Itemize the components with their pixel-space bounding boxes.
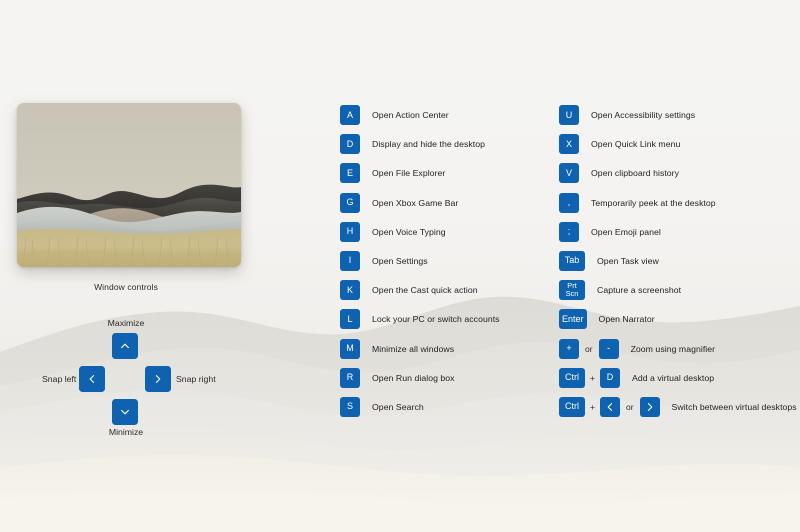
key-cap-line: Scn — [566, 290, 579, 298]
snap-right-label: Snap right — [176, 374, 216, 384]
shortcut-row: KOpen the Cast quick action — [340, 280, 500, 300]
shortcut-keys: K — [340, 280, 360, 300]
shortcut-keys: Tab — [559, 251, 585, 271]
shortcut-row: ;Open Emoji panel — [559, 222, 797, 242]
shortcut-keys: D — [340, 134, 360, 154]
maximize-button[interactable] — [112, 333, 138, 359]
key-+[interactable]: + — [559, 339, 579, 359]
key-x[interactable]: X — [559, 134, 579, 154]
shortcut-row: DDisplay and hide the desktop — [340, 134, 500, 154]
key-chevron-right-icon[interactable] — [640, 397, 660, 417]
shortcut-description: Open Task view — [585, 256, 659, 266]
shortcut-keys: L — [340, 309, 360, 329]
shortcut-keys: +or- — [559, 339, 619, 359]
wallpaper-thumbnail — [17, 103, 241, 267]
shortcut-keys: Ctrl+D — [559, 368, 620, 388]
shortcut-description: Open Xbox Game Bar — [360, 198, 458, 208]
wallpaper-thumbnail-image — [17, 103, 241, 267]
shortcut-row: SOpen Search — [340, 397, 500, 417]
shortcut-row: Ctrl+orSwitch between virtual desktops — [559, 397, 797, 417]
shortcut-description: Open File Explorer — [360, 168, 445, 178]
shortcut-list-right: UOpen Accessibility settingsXOpen Quick … — [559, 105, 797, 426]
shortcut-row: PrtScnCapture a screenshot — [559, 280, 797, 300]
key-k[interactable]: K — [340, 280, 360, 300]
key-r[interactable]: R — [340, 368, 360, 388]
shortcut-description: Open clipboard history — [579, 168, 679, 178]
chevron-right-icon — [152, 373, 164, 385]
maximize-label: Maximize — [0, 318, 252, 328]
shortcut-keys: ; — [559, 222, 579, 242]
key-combo-or: or — [579, 344, 599, 354]
key-e[interactable]: E — [340, 163, 360, 183]
key-g[interactable]: G — [340, 193, 360, 213]
shortcut-row: ,Temporarily peek at the desktop — [559, 193, 797, 213]
key-combo-plus: + — [585, 402, 600, 412]
shortcut-row: Ctrl+DAdd a virtual desktop — [559, 368, 797, 388]
shortcut-description: Open Action Center — [360, 110, 449, 120]
key-m[interactable]: M — [340, 339, 360, 359]
key-d[interactable]: D — [340, 134, 360, 154]
shortcut-row: HOpen Voice Typing — [340, 222, 500, 242]
key--[interactable]: - — [599, 339, 619, 359]
shortcut-row: LLock your PC or switch accounts — [340, 309, 500, 329]
shortcut-keys: , — [559, 193, 579, 213]
shortcut-description: Add a virtual desktop — [620, 373, 714, 383]
key-h[interactable]: H — [340, 222, 360, 242]
key-combo-or: or — [620, 402, 640, 412]
shortcut-row: GOpen Xbox Game Bar — [340, 193, 500, 213]
snap-left-label: Snap left — [42, 374, 76, 384]
key-a[interactable]: A — [340, 105, 360, 125]
shortcut-row: MMinimize all windows — [340, 339, 500, 359]
shortcut-description: Open Settings — [360, 256, 428, 266]
key-;[interactable]: ; — [559, 222, 579, 242]
key-l[interactable]: L — [340, 309, 360, 329]
shortcut-description: Capture a screenshot — [585, 285, 681, 295]
key-s[interactable]: S — [340, 397, 360, 417]
shortcut-row: UOpen Accessibility settings — [559, 105, 797, 125]
shortcut-keys: V — [559, 163, 579, 183]
snap-left-button[interactable] — [79, 366, 105, 392]
shortcut-keys: X — [559, 134, 579, 154]
key-combo-plus: + — [585, 373, 600, 383]
shortcut-description: Zoom using magnifier — [619, 344, 716, 354]
shortcut-keys: S — [340, 397, 360, 417]
shortcut-keys: E — [340, 163, 360, 183]
key-tab[interactable]: Tab — [559, 251, 585, 271]
shortcut-description: Open Quick Link menu — [579, 139, 680, 149]
window-controls-diagram: Window controls Maximize Snap left Snap … — [0, 282, 252, 442]
snap-right-button[interactable] — [145, 366, 171, 392]
shortcut-description: Open Emoji panel — [579, 227, 661, 237]
key-ctrl[interactable]: Ctrl — [559, 368, 585, 388]
chevron-left-icon — [86, 373, 98, 385]
shortcut-row: ROpen Run dialog box — [340, 368, 500, 388]
shortcut-keys: U — [559, 105, 579, 125]
shortcut-row: AOpen Action Center — [340, 105, 500, 125]
shortcut-description: Open Narrator — [587, 314, 655, 324]
shortcut-keys: H — [340, 222, 360, 242]
key-d[interactable]: D — [600, 368, 620, 388]
shortcut-keys: A — [340, 105, 360, 125]
shortcut-row: VOpen clipboard history — [559, 163, 797, 183]
minimize-label: Minimize — [0, 427, 252, 437]
key-ctrl[interactable]: Ctrl — [559, 397, 585, 417]
shortcut-row: +or-Zoom using magnifier — [559, 339, 797, 359]
shortcut-description: Open the Cast quick action — [360, 285, 478, 295]
key-v[interactable]: V — [559, 163, 579, 183]
shortcut-keys: PrtScn — [559, 280, 585, 300]
shortcut-description: Open Accessibility settings — [579, 110, 695, 120]
key-,[interactable]: , — [559, 193, 579, 213]
chevron-down-icon — [119, 406, 131, 418]
shortcut-description: Open Run dialog box — [360, 373, 455, 383]
shortcut-keys: I — [340, 251, 360, 271]
chevron-up-icon — [119, 340, 131, 352]
shortcut-keys: R — [340, 368, 360, 388]
key-enter[interactable]: Enter — [559, 309, 587, 329]
shortcut-row: IOpen Settings — [340, 251, 500, 271]
shortcut-description: Open Voice Typing — [360, 227, 446, 237]
shortcut-row: EnterOpen Narrator — [559, 309, 797, 329]
key-chevron-left-icon[interactable] — [600, 397, 620, 417]
shortcut-description: Temporarily peek at the desktop — [579, 198, 716, 208]
shortcut-description: Display and hide the desktop — [360, 139, 485, 149]
shortcut-description: Lock your PC or switch accounts — [360, 314, 500, 324]
shortcut-row: XOpen Quick Link menu — [559, 134, 797, 154]
window-controls-title: Window controls — [0, 282, 252, 292]
shortcut-row: TabOpen Task view — [559, 251, 797, 271]
shortcut-keys: Enter — [559, 309, 587, 329]
shortcut-keys: Ctrl+or — [559, 397, 660, 417]
key-prt-scn[interactable]: PrtScn — [559, 280, 585, 300]
shortcut-keys: G — [340, 193, 360, 213]
shortcut-description: Open Search — [360, 402, 424, 412]
shortcut-row: EOpen File Explorer — [340, 163, 500, 183]
shortcut-list-left: AOpen Action CenterDDisplay and hide the… — [340, 105, 500, 426]
minimize-button[interactable] — [112, 399, 138, 425]
shortcut-description: Minimize all windows — [360, 344, 454, 354]
key-i[interactable]: I — [340, 251, 360, 271]
shortcut-keys: M — [340, 339, 360, 359]
key-u[interactable]: U — [559, 105, 579, 125]
shortcut-description: Switch between virtual desktops — [660, 402, 797, 412]
